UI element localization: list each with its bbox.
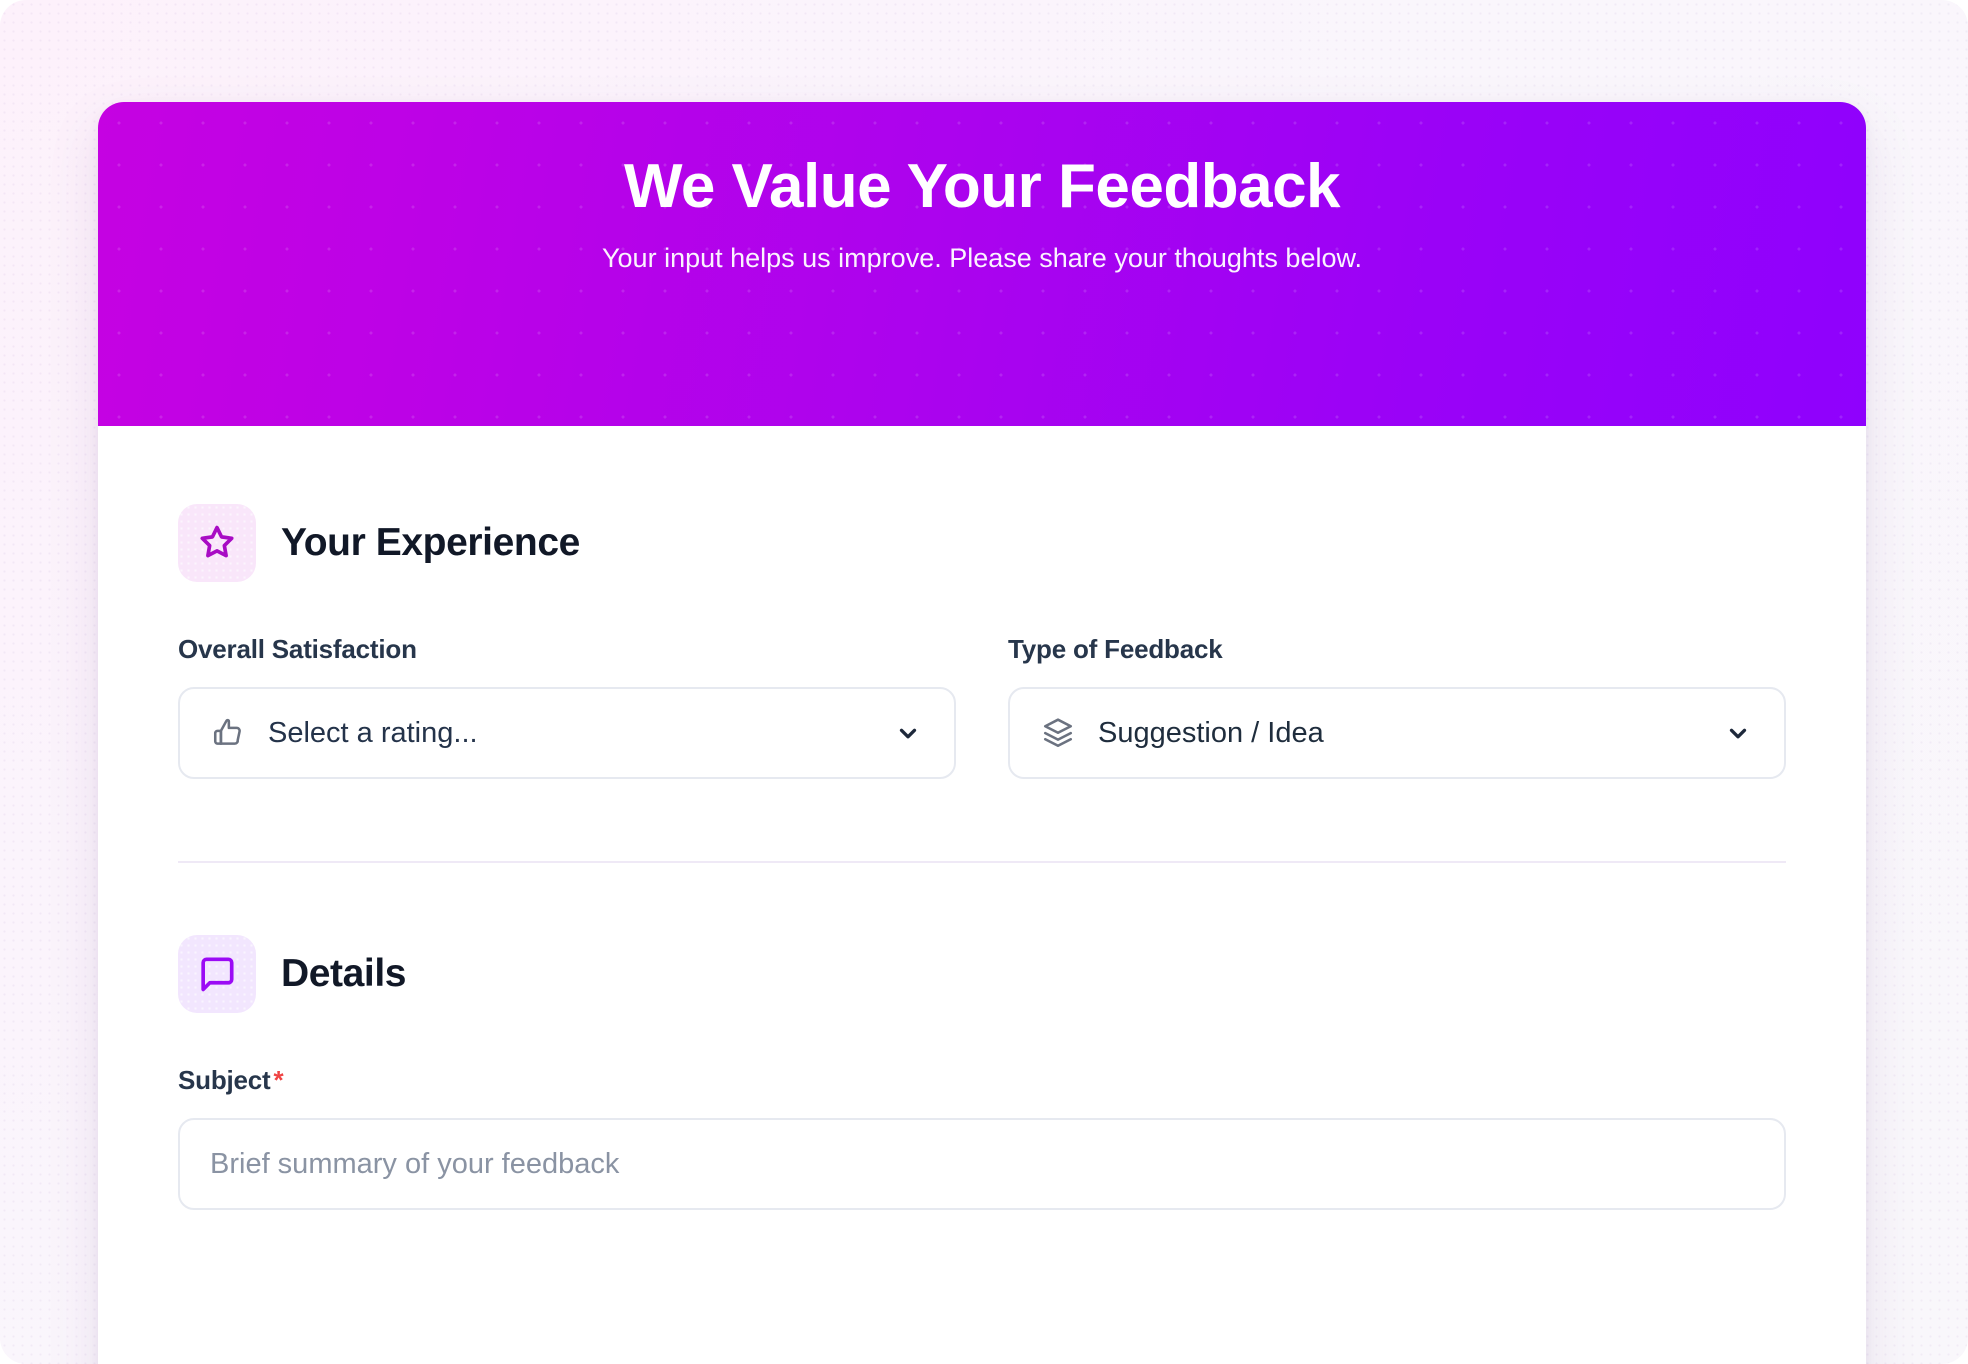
feedback-type-select[interactable]: Suggestion / Idea (1008, 687, 1786, 779)
satisfaction-select-value: Select a rating... (268, 717, 872, 750)
section-header-details: Details (178, 863, 1786, 1013)
section-title-your-experience: Your Experience (281, 521, 580, 565)
page-viewport: We Value Your Feedback Your input helps … (0, 0, 1968, 1364)
chevron-down-icon (894, 719, 922, 747)
field-type-of-feedback: Type of Feedback Suggestion / Idea (1008, 634, 1786, 779)
section-title-details: Details (281, 952, 406, 996)
subject-input[interactable] (178, 1118, 1786, 1210)
label-subject: Subject* (178, 1065, 1786, 1096)
label-subject-text: Subject (178, 1065, 271, 1095)
star-icon-badge (178, 504, 256, 582)
satisfaction-select[interactable]: Select a rating... (178, 687, 956, 779)
layers-icon (1040, 715, 1076, 751)
field-overall-satisfaction: Overall Satisfaction Select a rating... (178, 634, 956, 779)
message-square-icon (196, 953, 238, 995)
feedback-type-select-value: Suggestion / Idea (1098, 717, 1702, 750)
page-title: We Value Your Feedback (624, 154, 1340, 221)
star-icon (196, 522, 238, 564)
message-icon-badge (178, 935, 256, 1013)
form-header-banner: We Value Your Feedback Your input helps … (98, 102, 1866, 426)
required-asterisk: * (274, 1065, 284, 1095)
chevron-down-icon (1724, 719, 1752, 747)
feedback-form-card: We Value Your Feedback Your input helps … (98, 102, 1866, 1364)
page-subtitle: Your input helps us improve. Please shar… (602, 243, 1362, 274)
field-subject: Subject* (178, 1065, 1786, 1210)
thumbs-up-icon (210, 715, 246, 751)
experience-field-row: Overall Satisfaction Select a rating... (178, 634, 1786, 779)
label-type-of-feedback: Type of Feedback (1008, 634, 1786, 665)
section-header-your-experience: Your Experience (178, 426, 1786, 582)
form-body: Your Experience Overall Satisfaction Sel… (98, 426, 1866, 1210)
details-field-row: Subject* (178, 1065, 1786, 1210)
label-overall-satisfaction: Overall Satisfaction (178, 634, 956, 665)
